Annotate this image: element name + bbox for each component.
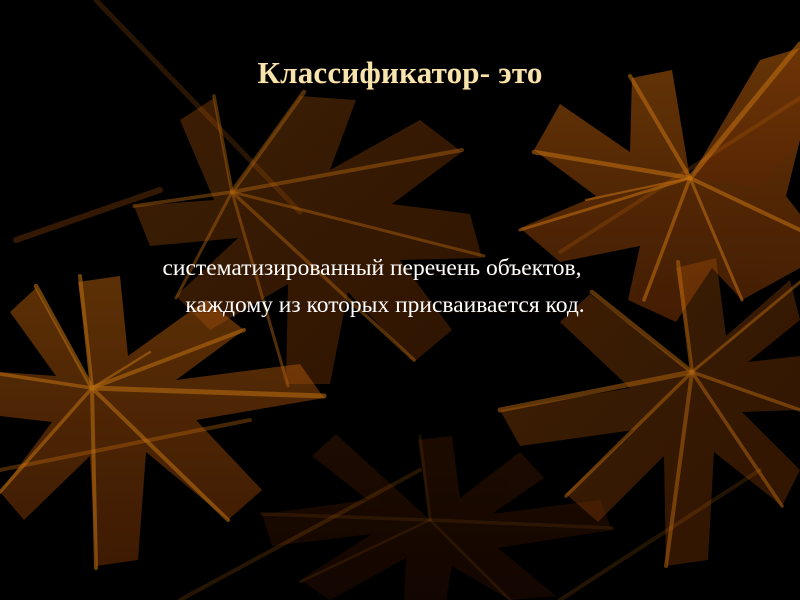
body-line-1: систематизированный перечень объектов, <box>46 250 698 287</box>
slide-title: Классификатор- это <box>0 55 800 91</box>
presentation-slide: Классификатор- это систематизированный п… <box>0 0 800 600</box>
slide-body-text: систематизированный перечень объектов, к… <box>46 250 698 324</box>
slide-text-layer: Классификатор- это систематизированный п… <box>0 0 800 600</box>
body-line-2: каждому из которых присваивается код. <box>46 287 698 324</box>
